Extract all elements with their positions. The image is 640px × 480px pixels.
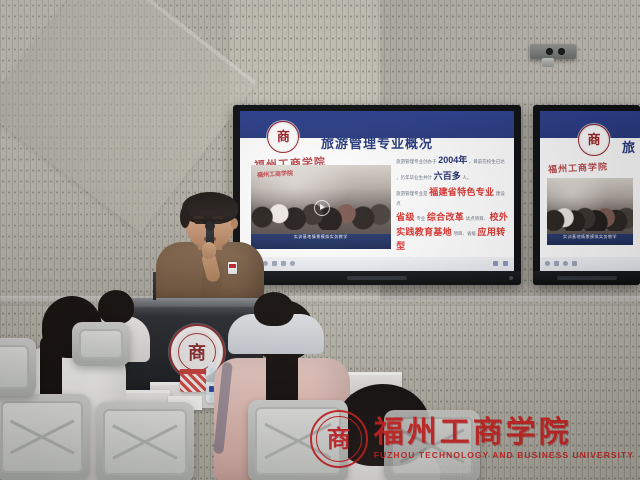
student-grey-top-hair — [254, 292, 294, 326]
slide-line-5-highlight: 实践教育基地 — [396, 227, 452, 237]
chair-left-center[interactable] — [96, 402, 194, 480]
slide-line-2-highlight: 六百多 — [434, 171, 461, 181]
slide-title: 旅游管理专业概况 — [240, 133, 514, 152]
watermark-chinese: 福州工商学院 — [374, 418, 634, 448]
slide-line-3-pre: 旅游管理专业是 — [396, 191, 428, 196]
slide-line-4: 省级 专业 综合改革 试点项目、 校外 — [396, 211, 508, 225]
red-woven-basket — [180, 372, 206, 392]
display-chin-left — [233, 271, 521, 285]
display-chin-right — [533, 271, 640, 285]
presenter-eye-left — [195, 221, 203, 224]
shape-icon[interactable] — [272, 261, 277, 266]
slide-line-3: 旅游管理专业是 福建省特色专业 建设点 — [396, 186, 508, 208]
more-icon[interactable] — [290, 261, 295, 266]
slide-line-4-highlight3: 校外 — [490, 212, 509, 222]
watermark-seal-icon: 商 — [310, 410, 368, 468]
slide-line-1-post: ，目前在校生已达 — [469, 159, 505, 164]
play-button-icon[interactable] — [314, 200, 330, 216]
chair-far-left[interactable] — [0, 338, 36, 396]
slide-line-3-highlight: 福建省特色专业 — [429, 187, 494, 197]
slide-line-4-highlight2: 综合改革 — [427, 212, 464, 222]
student-grey-top — [228, 292, 324, 352]
presentation-slide: 商 旅游管理专业概况 福州工商学院 FUZHOU TECHNOLOGY AND … — [240, 111, 514, 271]
screen-panel-left: 商 旅游管理专业概况 福州工商学院 FUZHOU TECHNOLOGY AND … — [240, 111, 514, 271]
watermark: 商 福州工商学院 FUZHOU TECHNOLOGY AND BUSINESS … — [310, 410, 634, 468]
display-control-strip-right[interactable] — [557, 276, 617, 280]
slide-line-1-highlight: 2004年 — [438, 155, 467, 165]
video-caption-text-secondary: 实训基地情景模拟实务教学 — [547, 234, 633, 240]
minimize-icon[interactable] — [493, 261, 498, 266]
slide-line-1: 旅游管理专业创办于 2004年 ，目前在校生已达 — [396, 154, 508, 168]
eraser-icon-secondary[interactable] — [563, 261, 568, 266]
chair-mesh-back — [103, 409, 187, 475]
camera-lens-right — [558, 48, 565, 55]
display-power-led — [509, 276, 513, 280]
slide-line-2-pre: ，历年毕业生共计 — [396, 175, 432, 180]
chair-left[interactable] — [0, 394, 90, 480]
secondary-projection-screen[interactable]: 商 旅 福州工商学院 实训基地情景模拟实务教学 — [533, 105, 640, 285]
watermark-english: FUZHOU TECHNOLOGY AND BUSINESS UNIVERSIT… — [374, 451, 634, 460]
lecture-hall-photo: 商 旅游管理专业概况 福州工商学院 FUZHOU TECHNOLOGY AND … — [0, 0, 640, 480]
main-projection-screen[interactable]: 商 旅游管理专业概况 福州工商学院 FUZHOU TECHNOLOGY AND … — [233, 105, 521, 285]
chair-mesh-back — [1, 401, 83, 473]
pen-icon-secondary[interactable] — [554, 261, 559, 266]
video-caption-bar-secondary: 实训基地情景模拟实务教学 — [547, 234, 633, 245]
video-watermark: 福州工商学院 — [256, 168, 292, 179]
image-icon[interactable] — [281, 261, 286, 266]
slide-body-text: 旅游管理专业创办于 2004年 ，目前在校生已达 ，历年毕业生共计 六百多 人。… — [396, 154, 508, 258]
display-control-strip[interactable] — [347, 276, 407, 280]
screen-panel-right: 商 旅 福州工商学院 实训基地情景模拟实务教学 — [540, 111, 640, 271]
slide-line-5: 实践教育基地 项目、省级 应用转型 — [396, 226, 508, 254]
basket-rim — [179, 369, 207, 374]
slide-line-5-post: 项目、省级 — [454, 231, 477, 236]
video-caption-bar: 实训基地情景模拟实务教学 — [251, 234, 391, 248]
chair-back-row[interactable] — [72, 322, 130, 366]
slide-line-2: ，历年毕业生共计 六百多 人。 — [396, 170, 508, 184]
embedded-video-thumbnail[interactable]: 福州工商学院 实训基地情景模拟实务教学 — [251, 165, 391, 248]
slide-toolbar[interactable] — [240, 257, 514, 271]
presenter-name-badge — [228, 262, 237, 274]
watermark-seal-glyph: 商 — [327, 427, 351, 451]
presenter-hand — [202, 242, 216, 259]
slide-line-2-post: 人。 — [462, 175, 471, 180]
presenter-eyebrow-right — [212, 216, 223, 219]
presenter-eyebrow-left — [193, 216, 204, 219]
camera-mount-bracket — [542, 58, 554, 67]
slide-line-4-mid: 专业 — [416, 216, 425, 221]
watermark-text-group: 福州工商学院 FUZHOU TECHNOLOGY AND BUSINESS UN… — [374, 418, 634, 460]
shape-icon-secondary[interactable] — [572, 261, 577, 266]
pointer-icon-secondary[interactable] — [545, 261, 550, 266]
chair-mesh-back — [79, 329, 123, 359]
close-icon[interactable] — [503, 261, 508, 266]
camera-lens-left — [546, 48, 553, 55]
slide-line-4-highlight: 省级 — [396, 212, 415, 222]
slide-title-secondary: 旅 — [540, 137, 640, 156]
slide-watermark-secondary: 福州工商学院 — [548, 159, 609, 175]
slide-line-1-pre: 旅游管理专业创办于 — [396, 159, 437, 164]
embedded-video-thumbnail-secondary[interactable]: 实训基地情景模拟实务教学 — [547, 178, 633, 245]
video-audience-silhouettes-secondary — [547, 196, 633, 231]
video-caption-text: 实训基地情景模拟实务教学 — [251, 234, 391, 240]
presenter-hair — [182, 192, 238, 224]
presentation-slide-secondary: 商 旅 福州工商学院 实训基地情景模拟实务教学 — [540, 111, 640, 271]
wall-mounted-camera-icon — [530, 44, 576, 59]
slide-toolbar-right-group — [493, 261, 514, 266]
slide-toolbar-secondary[interactable] — [540, 257, 640, 271]
lectern-microphone-stem — [153, 272, 156, 300]
presenter-eye-right — [214, 221, 222, 224]
chair-mesh-back — [0, 345, 29, 389]
slide-line-4-post: 试点项目、 — [466, 216, 489, 221]
